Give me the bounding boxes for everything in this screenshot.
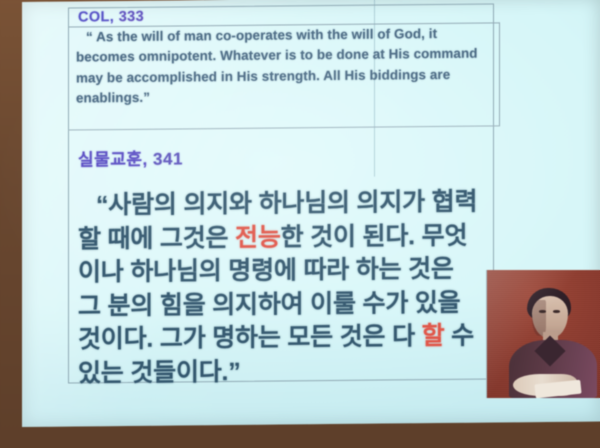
korean-citation-page: 341 bbox=[153, 149, 183, 168]
korean-quote-text: “사람의 의지와 하나님의 의지가 협력할 때에 그것은 전능한 것이 된다. … bbox=[78, 186, 482, 391]
photo-glare bbox=[487, 270, 600, 398]
english-citation-source: COL, bbox=[78, 9, 114, 25]
korean-quote-highlight-do: 할 bbox=[422, 322, 445, 350]
english-quote-text: “ As the will of man co-operates with th… bbox=[76, 23, 492, 108]
english-citation-page: 333 bbox=[119, 9, 144, 25]
korean-citation: 실물교훈, 341 bbox=[78, 144, 183, 170]
projected-slide-photo: COL, 333 “ As the will of man co-operate… bbox=[0, 0, 600, 448]
english-citation: COL, 333 bbox=[78, 9, 144, 26]
korean-quote-highlight-omnipotent: 전능 bbox=[235, 223, 281, 251]
speaker-portrait-photo bbox=[486, 270, 600, 398]
korean-citation-source: 실물교훈, bbox=[78, 150, 148, 170]
